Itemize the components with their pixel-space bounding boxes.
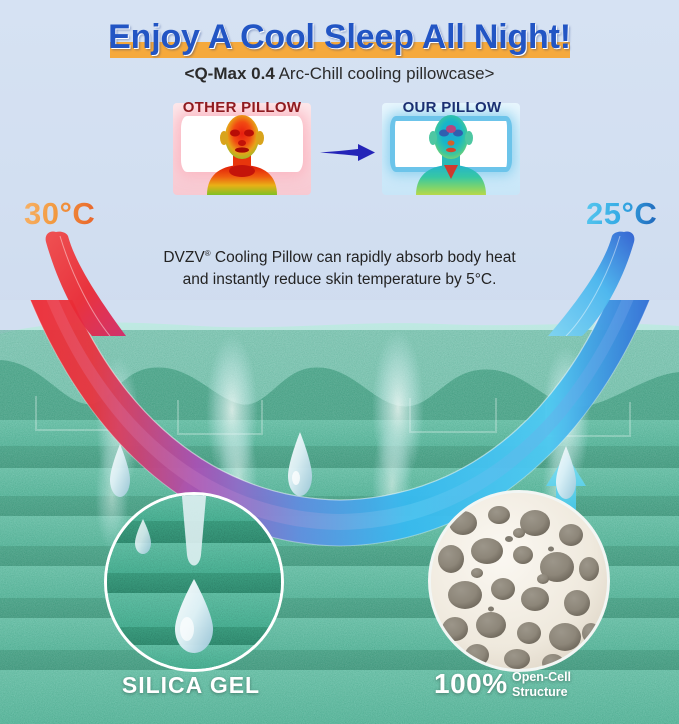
- subtitle-rest-part: Arc-Chill cooling pillowcase>: [275, 64, 495, 83]
- product-infographic: Enjoy A Cool Sleep All Night! <Q-Max 0.4…: [0, 0, 679, 724]
- thermal-body-hot: [173, 109, 311, 195]
- inset-silica-gel: [104, 492, 284, 672]
- subtitle: <Q-Max 0.4 Arc-Chill cooling pillowcase>: [0, 64, 679, 84]
- thermal-label-other-pillow: OTHER PILLOW: [152, 99, 332, 116]
- page-title: Enjoy A Cool Sleep All Night!: [108, 18, 571, 57]
- thermal-body-cool: [382, 109, 520, 195]
- caption-silica-gel: SILICA GEL: [66, 672, 316, 699]
- arc-tips: [0, 226, 679, 336]
- inset-open-cell-structure: [428, 490, 610, 672]
- caption-percent: 100%: [434, 668, 508, 700]
- right-arrow-icon: [318, 142, 378, 162]
- thermal-card-our-pillow: [382, 103, 520, 195]
- title-block: Enjoy A Cool Sleep All Night!: [0, 18, 679, 64]
- thermal-card-other-pillow: [173, 103, 311, 195]
- caption-open-cell-line2: Structure: [512, 685, 571, 700]
- thermal-label-our-pillow: OUR PILLOW: [362, 99, 542, 116]
- caption-open-cell: Open-Cell Structure: [512, 670, 571, 700]
- subtitle-bold-part: <Q-Max 0.4: [185, 64, 275, 83]
- caption-open-cell-line1: Open-Cell: [512, 670, 571, 685]
